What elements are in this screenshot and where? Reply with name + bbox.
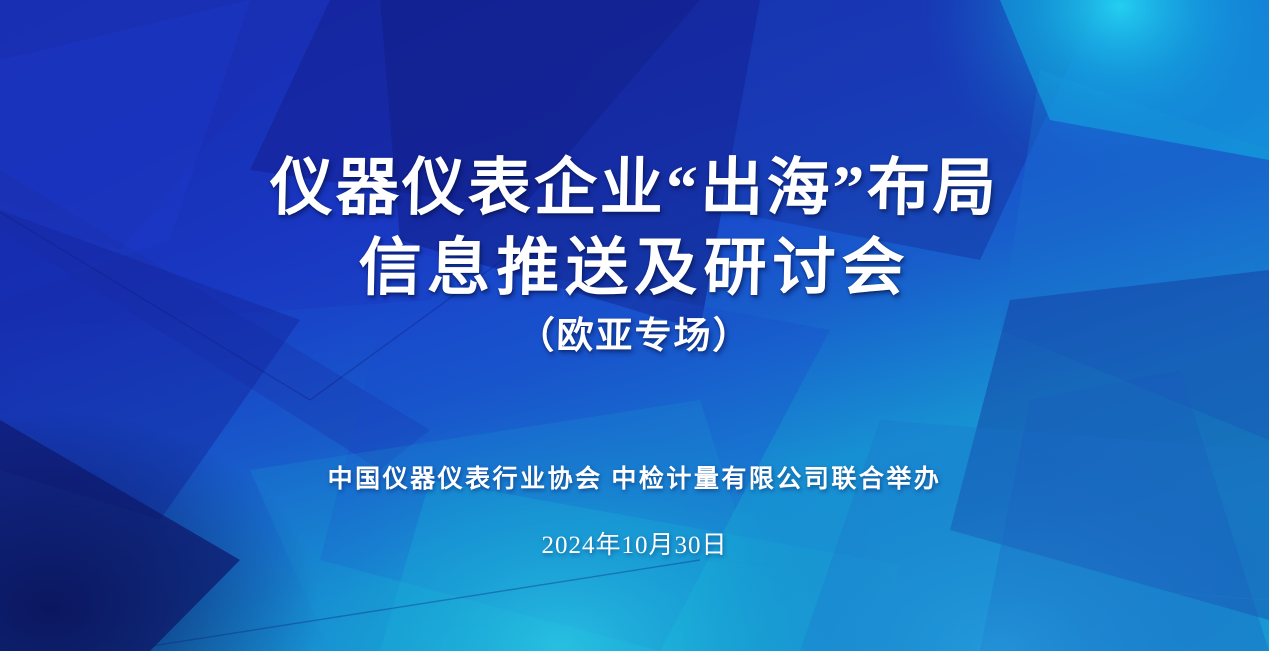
title-line-1: 仪器仪表企业“出海”布局 bbox=[0, 148, 1269, 228]
slide-content: 仪器仪表企业“出海”布局 信息推送及研讨会 （欧亚专场） 中国仪器仪表行业协会 … bbox=[0, 0, 1269, 651]
title-slide: 仪器仪表企业“出海”布局 信息推送及研讨会 （欧亚专场） 中国仪器仪表行业协会 … bbox=[0, 0, 1269, 651]
title-line-2: 信息推送及研讨会 bbox=[0, 228, 1269, 308]
title-block: 仪器仪表企业“出海”布局 信息推送及研讨会 （欧亚专场） bbox=[0, 148, 1269, 360]
organizers-line: 中国仪器仪表行业协会 中检计量有限公司联合举办 bbox=[0, 463, 1269, 497]
event-date: 2024年10月30日 bbox=[0, 530, 1269, 562]
title-session-subtitle: （欧亚专场） bbox=[0, 314, 1269, 360]
footer-block: 中国仪器仪表行业协会 中检计量有限公司联合举办 2024年10月30日 bbox=[0, 463, 1269, 562]
